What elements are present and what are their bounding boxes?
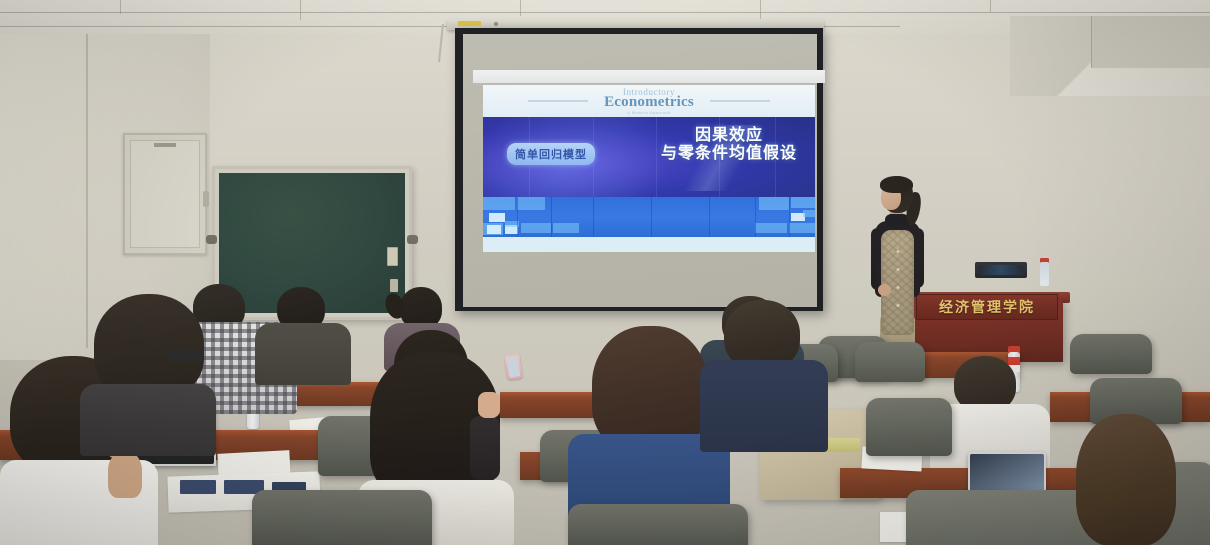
projection-screen: Introductory Econometrics A Modern Appro… (455, 28, 823, 311)
slide-title: 因果效应 与零条件均值假设 (661, 127, 797, 163)
presenter-vest-pattern (881, 230, 914, 335)
person-hand (478, 392, 500, 418)
slide-tile-divider (651, 197, 652, 237)
phone-screen (507, 356, 521, 377)
chalkboard-knob-icon (206, 235, 217, 244)
audience-person (1076, 414, 1186, 545)
slide-tile-divider (789, 197, 790, 237)
vest-button-icon (896, 250, 899, 253)
slide-header-sup: Introductory (604, 88, 694, 97)
eyeglasses-icon (168, 350, 204, 361)
slide-tile-divider (755, 197, 756, 237)
browser-notice-bar (473, 70, 825, 83)
slide-tile-divider (551, 197, 552, 237)
header-rule-right (710, 100, 770, 102)
header-rule-left (528, 100, 588, 102)
person-head (94, 294, 204, 398)
slide-tile (553, 223, 579, 233)
slide-title-line2: 与零条件均值假设 (661, 145, 797, 163)
electrical-panel[interactable] (123, 133, 207, 255)
presenter-vest (881, 230, 914, 335)
notebook[interactable] (824, 438, 860, 452)
slide-tile (489, 213, 505, 222)
slide-header-sub: A Modern Approach (604, 111, 694, 115)
slide-header: Introductory Econometrics A Modern Appro… (483, 85, 815, 117)
handout-figure (180, 480, 216, 494)
chalk-eraser[interactable] (387, 247, 398, 266)
slide-tile (791, 197, 815, 208)
person-arm (470, 416, 500, 480)
ceiling-tile-line (520, 0, 521, 16)
slide-tile (789, 223, 815, 233)
vest-button-icon (896, 268, 899, 271)
slide-tile-divider (709, 197, 710, 237)
slide-tile (755, 223, 787, 233)
slide-book-title: Introductory Econometrics A Modern Appro… (604, 88, 694, 115)
chair[interactable] (1070, 334, 1152, 374)
podium-sign: 经济管理学院 (916, 294, 1058, 320)
slide-title-line1: 因果效应 (661, 127, 797, 145)
slide-tile (517, 197, 545, 210)
slide-tile-divider (517, 197, 518, 237)
panel-vent-icon (154, 143, 176, 147)
slide-tile (521, 223, 551, 233)
chair[interactable] (568, 504, 748, 545)
chalkboard-knob-icon (407, 235, 418, 244)
ceiling-soffit-face (1091, 16, 1210, 68)
panel-latch-icon[interactable] (203, 191, 209, 207)
slide-tile (803, 210, 815, 217)
ceiling-tile-line (120, 0, 121, 14)
person-hair (1076, 414, 1176, 545)
slide-chapter-badge: 简单回归模型 (507, 143, 595, 165)
ceiling-tile-line (990, 0, 991, 12)
lecture-hall-photo: Introductory Econometrics A Modern Appro… (0, 0, 1210, 545)
chair[interactable] (855, 342, 925, 382)
person-suit (80, 384, 216, 456)
presenter (866, 176, 928, 358)
smartphone[interactable] (504, 354, 522, 380)
ceiling-tile-line (300, 0, 301, 20)
vest-button-icon (896, 304, 899, 307)
presentation-slide: Introductory Econometrics A Modern Appro… (483, 85, 815, 252)
panel-door (130, 140, 200, 248)
slide-header-main: Econometrics (604, 95, 694, 110)
audience-person (80, 294, 216, 444)
ceiling-tile-line (0, 12, 1210, 13)
podium-laptop[interactable] (975, 262, 1027, 278)
slide-tile (759, 197, 789, 210)
person-jacket (255, 323, 351, 385)
roller-label-sticker (458, 21, 481, 26)
chair[interactable] (866, 398, 952, 456)
podium-laptop-screen (979, 265, 1023, 275)
person-hand (108, 452, 142, 498)
person-jacket (700, 360, 828, 452)
slide-footer-band (483, 237, 815, 252)
presenter-hair (880, 176, 913, 193)
screen-surface: Introductory Econometrics A Modern Appro… (463, 34, 817, 307)
slide-tile (487, 225, 501, 234)
slide-tile-divider (593, 197, 594, 237)
slide-tile (483, 197, 515, 210)
chair[interactable] (252, 490, 432, 545)
slide-tile-band (483, 197, 815, 237)
presenter-hand (878, 284, 891, 296)
audience-person (255, 287, 351, 382)
vest-button-icon (896, 286, 899, 289)
podium-water-bottle[interactable] (1040, 262, 1049, 286)
roller-screw-icon (494, 22, 498, 26)
audience-person (700, 300, 828, 450)
